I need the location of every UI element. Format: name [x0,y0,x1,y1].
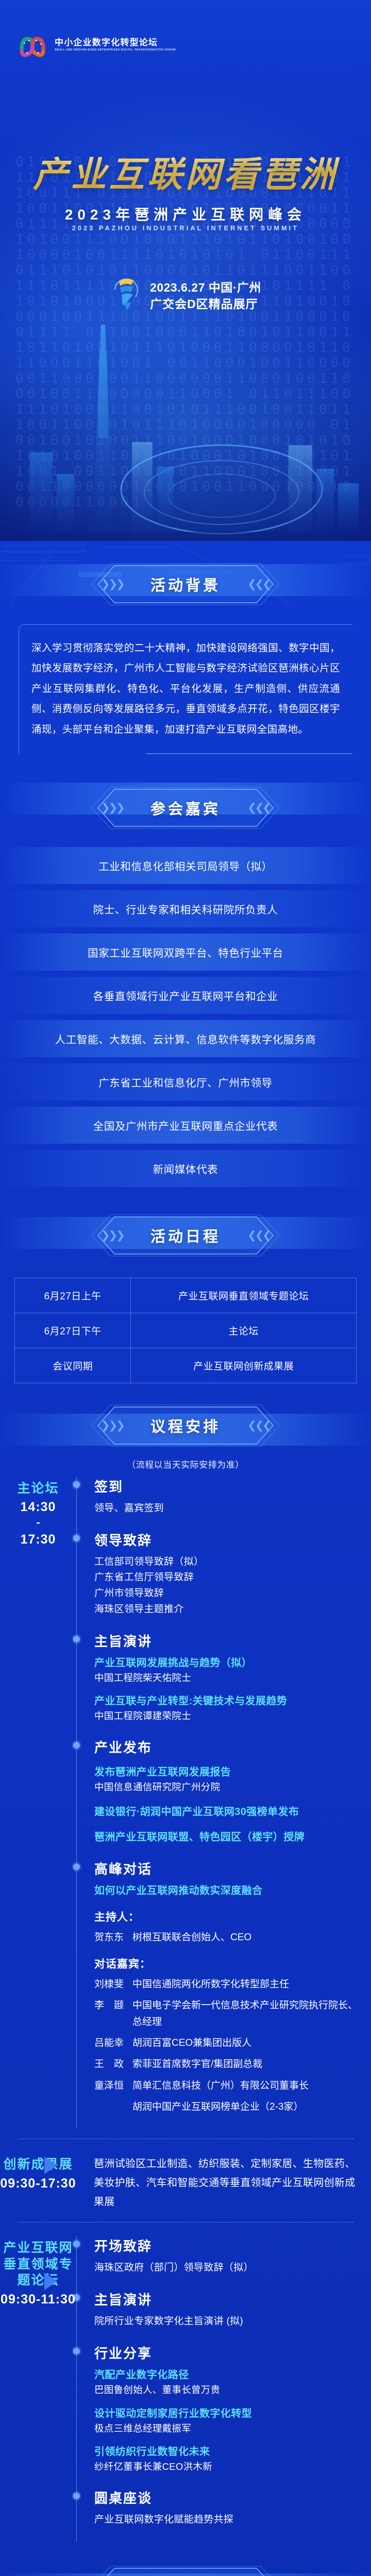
hero-venue-line: 广交会D区精品展厅 [150,297,261,312]
agenda-person: 王 政索菲亚首席数字官/集团副总裁 [94,2056,359,2072]
section-header-background: ❯❯❯ ❮❮❮ 活动背景 [0,541,371,619]
person-name: 王 政 [94,2056,132,2072]
agenda-panel-label: 对话嘉宾： [94,1956,359,1971]
chevron-left-icon: ❮❮❮ [247,1229,270,1242]
agenda-announcement: 建设银行·胡润中国产业互联网30强榜单发布 [94,1804,359,1820]
person-role: 树根互联联合创始人、CEO [132,1929,359,1945]
agenda-time-range: 09:30-11:30 [0,2291,76,2308]
agenda-line: 广东省工信厅领导致辞 [94,1570,359,1586]
guest-item: 国家工业互联网双跨平台、特色行业平台 [0,934,371,971]
schedule-time: 会议同期 [15,1348,131,1383]
guest-item: 各垂直领域行业产业互联网平台和企业 [0,977,371,1014]
agenda-block-heading: 开场致辞 [94,2236,359,2255]
chevron-left-icon: ❮❮❮ [247,1419,270,1432]
schedule-time: 6月27日下午 [15,1313,131,1348]
agenda-line: 院所行业专家数字化主旨演讲 (拟) [94,2314,359,2330]
event-poster-page: 0101001101101001011010010110111001100111… [0,0,371,2576]
agenda-track: 产业互联网垂直领域专题论坛09:30-11:30开场致辞海珠区政府（部门）领导致… [0,2236,371,2541]
logo-title-cn: 中小企业数字化转型论坛 [55,38,176,47]
agenda-block: 主旨演讲产业互联网发展挑战与趋势（拟）中国工程院柴天佑院士产业互联与产业转型:关… [94,1631,359,1737]
agenda-talk-speaker: 中国工程院柴天佑院士 [94,1671,359,1686]
person-name: 吕能幸 [94,2035,132,2051]
logo-title-en: SMALL AND MEDIUM-SIZED ENTERPRISES DIGIT… [55,49,176,52]
schedule-event: 主论坛 [131,1313,357,1348]
city-skyline-graphic [0,319,371,541]
person-name: 刘棣斐 [94,1976,132,1992]
timeline-dot-icon [73,1636,80,1642]
schedule-event: 产业互联网创新成果展 [131,1348,357,1383]
agenda-description: 琶洲试验区工业制造、纺织服装、定制家居、生物医药、美妆护肤、汽车和智能交通等垂直… [94,2153,359,2212]
agenda-talk-topic: 发布琶洲产业互联网发展报告 [94,1765,359,1780]
hero-banner: 0101001101101001011010010110111001100111… [0,0,371,541]
agenda-track-name: 主论坛 [0,1481,76,1497]
schedule-event: 产业互联网垂直领域专题论坛 [131,1278,357,1313]
agenda-block: 高峰对话如何以产业互联网推动数实深度融合主持人：贺东东树根互联联合创始人、CEO… [94,1859,359,2129]
timeline-dot-icon [73,2493,80,2499]
person-role: 中国电子学会新一代信息技术产业研究院执行院长、总经理 [132,1997,359,2030]
agenda-person: 吕能幸胡润百富CEO兼集团出版人 [94,2035,359,2051]
section-title-agenda: 议程安排 [150,1415,221,1436]
agenda-block: 圆桌座谈产业互联网数字化赋能趋势共探 [94,2488,359,2541]
agenda-track-time: 创新成果展09:30-17:30 [0,2153,76,2192]
guest-item: 新闻媒体代表 [0,1150,371,1187]
agenda-divider [18,2139,353,2139]
agenda-block-heading: 圆桌座谈 [94,2488,359,2507]
agenda-block: 开场致辞海珠区政府（部门）领导致辞（拟） [94,2236,359,2290]
agenda-block-heading: 签到 [94,1477,359,1496]
guest-list: 工业和信息化部相关司局领导（拟）院士、行业专家和相关科研院所负责人国家工业互联网… [0,843,371,1195]
person-role: 简单汇信息科技（广州）有限公司董事长 [132,2078,359,2094]
hero-date-line: 2023.6.27 中国·广州 [150,280,261,295]
person-role: 胡润百富CEO兼集团出版人 [132,2035,359,2051]
hero-subtitle-cn: 2023年琶洲产业互联网峰会 [0,204,371,224]
section-header-schedule: ❯❯❯ ❮❮❮ 活动日程 [0,1195,371,1270]
agenda-talk-topic: 产业互联网发展挑战与趋势（拟） [94,1655,359,1671]
agenda-talk-topic: 产业互联与产业转型:关键技术与发展趋势 [94,1693,359,1709]
agenda-talk-topic: 引领纺织行业数智化未来 [94,2444,359,2460]
section-title-schedule: 活动日程 [150,1225,221,1246]
agenda-track-name: 创新成果展 [0,2157,76,2173]
agenda-block-heading: 高峰对话 [94,1859,359,1878]
schedule-table: 6月27日上午产业互联网垂直领域专题论坛6月27日下午主论坛会议同期产业互联网创… [14,1278,357,1383]
agenda-track-time: 主论坛14:30-17:30 [0,1477,76,1548]
agenda-track-body: 签到领导、嘉宾签到领导致辞工信部司领导致辞（拟）广东省工信厅领导致辞广州市领导致… [76,1477,371,2129]
person-name: 李 颋 [94,1997,132,2030]
agenda-block-heading: 领导致辞 [94,1530,359,1549]
background-text-card: 深入学习贯彻落实党的二十大精神，加快建设网络强国、数字中国，加快发展数字经济，广… [19,624,352,754]
agenda-talk-topic: 设计驱动定制家居行业数字化转型 [94,2406,359,2421]
agenda-person: 童泽恒简单汇信息科技（广州）有限公司董事长 [94,2078,359,2094]
agenda-block-heading: 主旨演讲 [94,1631,359,1650]
person-role: 胡润中国产业互联网榜单企业（2-3家） [132,2099,359,2115]
agenda-block: 产业发布发布琶洲产业互联网发展报告中国信息通信研究院广州分院建设银行·胡润中国产… [94,1737,359,1859]
guest-item: 院士、行业专家和相关科研院所负责人 [0,890,371,927]
agenda-line: 广州市领导致辞 [94,1586,359,1602]
agenda-time-end: 17:30 [0,1531,76,1548]
person-name [94,2099,132,2115]
hero-date-venue: 2023.6.27 中国·广州 广交会D区精品展厅 [0,272,371,319]
agenda-track-body: 琶洲试验区工业制造、纺织服装、定制家居、生物医药、美妆护肤、汽车和智能交通等垂直… [76,2153,371,2212]
chevron-right-icon: ❯❯❯ [101,1419,124,1432]
agenda-track-body: 开场致辞海珠区政府（部门）领导致辞（拟）主旨演讲院所行业专家数字化主旨演讲 (拟… [76,2236,371,2541]
timeline-dot-icon [73,1742,80,1749]
agenda-line: 产业互联网数字化赋能趋势共探 [94,2512,359,2528]
poster-body: ❯❯❯ ❮❮❮ 活动背景 深入学习贯彻落实党的二十大精神，加快建设网络强国、数字… [0,541,371,2576]
person-name: 童泽恒 [94,2078,132,2094]
agenda-talk-speaker: 中国工程院谭建荣院士 [94,1709,359,1724]
canton-tower-icon [110,272,143,319]
agenda-line: 海珠区政府（部门）领导致辞（拟） [94,2260,359,2276]
person-role: 索菲亚首席数字官/集团副总裁 [132,2056,359,2072]
chevron-right-icon: ❯❯❯ [101,1229,124,1242]
agenda-time-start: 14:30 [0,1499,76,1516]
section-header-organizers: ❯❯❯ ❮❮❮ 组织机构 [0,2557,371,2576]
agenda-block: 签到领导、嘉宾签到 [94,1477,359,1530]
agenda-talk-speaker: 极点三维总经理戴振军 [94,2421,359,2436]
agenda-time-dash: - [0,1516,76,1529]
guest-item: 广东省工业和信息化厅、广州市领导 [0,1063,371,1100]
agenda-track: 创新成果展09:30-17:30琶洲试验区工业制造、纺织服装、定制家居、生物医药… [0,2153,371,2212]
section-header-agenda: ❯❯❯ ❮❮❮ 议程安排 [0,1399,371,1461]
person-name: 贺东东 [94,1929,132,1945]
chevron-right-icon: ❯❯❯ [101,578,124,591]
agenda-talk-speaker: 巴图鲁创始人、董事长曾万贵 [94,2383,359,2398]
hero-calligraphy-title: 产业互联网看琶洲 [0,146,371,197]
forum-logo: 中小企业数字化转型论坛 SMALL AND MEDIUM-SIZED ENTER… [18,32,176,58]
agenda-person: 刘棣斐中国信通院两化所数字化转型部主任 [94,1976,359,1992]
chevron-left-icon: ❮❮❮ [247,801,270,814]
hexagon-frame-icon [82,2565,289,2576]
triangle-marker-icon [44,2273,57,2290]
schedule-row: 会议同期产业互联网创新成果展 [15,1348,357,1383]
agenda-block: 行业分享汽配产业数字化路径巴图鲁创始人、董事长曾万贵设计驱动定制家居行业数字化转… [94,2343,359,2488]
timeline-dot-icon [73,2348,80,2354]
agenda-talk-speaker: 中国信息通信研究院广州分院 [94,1780,359,1795]
chevron-right-icon: ❯❯❯ [101,801,124,814]
agenda-announcement: 琶洲产业互联网联盟、特色园区（楼宇）授牌 [94,1829,359,1845]
agenda-line: 工信部司领导致辞（拟） [94,1554,359,1570]
agenda-topic: 如何以产业互联网推动数实深度融合 [94,1883,359,1899]
schedule-row: 6月27日上午产业互联网垂直领域专题论坛 [15,1278,357,1313]
chevron-left-icon: ❮❮❮ [247,578,270,591]
agenda-line: 领导、嘉宾签到 [94,1501,359,1517]
section-header-guests: ❯❯❯ ❮❮❮ 参会嘉宾 [0,754,371,843]
agenda-time-range: 09:30-17:30 [0,2175,76,2192]
guest-item: 人工智能、大数据、云计算、信息软件等数字化服务商 [0,1020,371,1057]
triangle-marker-icon [44,2157,57,2174]
agenda-divider [18,2222,353,2223]
agenda-block-heading: 产业发布 [94,1737,359,1756]
agenda-talk-speaker: 纱纤亿董事长兼CEO洪木新 [94,2460,359,2475]
schedule-row: 6月27日下午主论坛 [15,1313,357,1348]
guest-item: 工业和信息化部相关司局领导（拟） [0,847,371,884]
agenda-block: 主旨演讲院所行业专家数字化主旨演讲 (拟) [94,2290,359,2343]
agenda-talk-topic: 汽配产业数字化路径 [94,2367,359,2383]
section-title-background: 活动背景 [150,573,221,595]
hero-subtitle-en: 2023 PAZHOU INDUSTRIAL INTERNET SUMMIT [0,225,371,232]
guest-item: 全国及广州市产业互联网重点企业代表 [0,1107,371,1144]
agenda-block-heading: 主旨演讲 [94,2290,359,2309]
schedule-time: 6月27日上午 [15,1278,131,1313]
agenda-person: 贺东东树根互联联合创始人、CEO [94,1929,359,1945]
agenda-block: 领导致辞工信部司领导致辞（拟）广东省工信厅领导致辞广州市领导致辞海珠区领导主题推… [94,1530,359,1631]
agenda-track-time: 产业互联网垂直领域专题论坛09:30-11:30 [0,2236,76,2308]
agenda-container: 主论坛14:30-17:30签到领导、嘉宾签到领导致辞工信部司领导致辞（拟）广东… [0,1473,371,2557]
agenda-track: 主论坛14:30-17:30签到领导、嘉宾签到领导致辞工信部司领导致辞（拟）广东… [0,1477,371,2129]
agenda-host-label: 主持人： [94,1909,359,1924]
section-title-guests: 参会嘉宾 [150,797,221,819]
person-role: 中国信通院两化所数字化转型部主任 [132,1976,359,1992]
agenda-block-heading: 行业分享 [94,2343,359,2362]
infinity-knot-logo-icon [18,32,47,58]
agenda-person: 李 颋中国电子学会新一代信息技术产业研究院执行院长、总经理 [94,1997,359,2030]
agenda-person: 胡润中国产业互联网榜单企业（2-3家） [94,2099,359,2115]
agenda-line: 海珠区领导主题推介 [94,1602,359,1618]
background-paragraph: 深入学习贯彻落实党的二十大精神，加快建设网络强国、数字中国，加快发展数字经济，广… [31,638,340,740]
timeline-dot-icon [73,1863,80,1870]
agenda-track-name: 产业互联网垂直领域专题论坛 [0,2240,76,2289]
